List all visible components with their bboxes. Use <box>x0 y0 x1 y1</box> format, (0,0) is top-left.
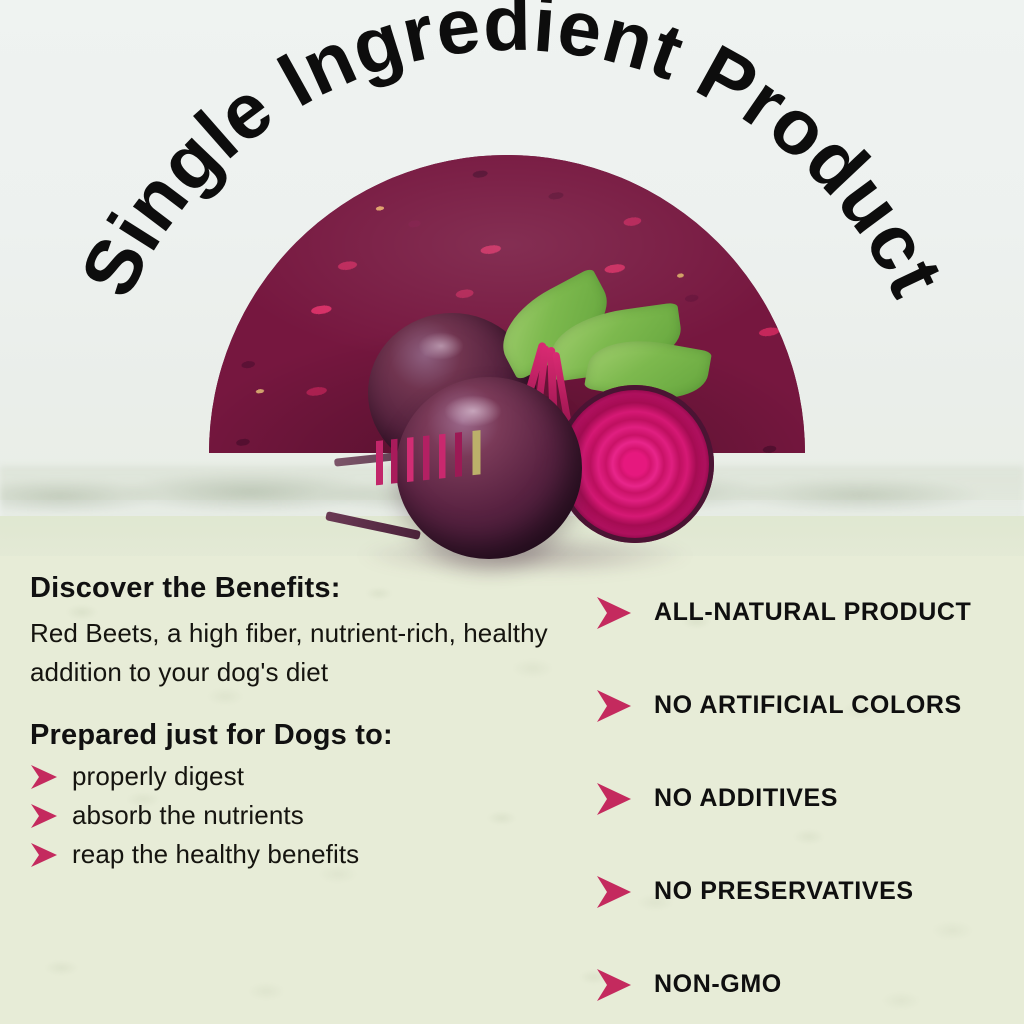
list-item: reap the healthy benefits <box>30 839 550 870</box>
arrow-bullet-icon <box>596 782 632 816</box>
list-item: ALL-NATURAL PRODUCT <box>596 566 1016 659</box>
list-item: properly digest <box>30 761 550 792</box>
product-claims-list: ALL-NATURAL PRODUCT NO ARTIFICIAL COLORS… <box>596 566 1016 1024</box>
list-item-label: ALL-NATURAL PRODUCT <box>654 598 971 627</box>
list-item-label: NO PRESERVATIVES <box>654 877 914 906</box>
benefits-body: Red Beets, a high fiber, nutrient-rich, … <box>30 614 550 690</box>
infographic-stage: Single Ingredient Product Discover the B… <box>0 0 1024 1024</box>
list-item: NON-GMO <box>596 938 1016 1024</box>
benefits-column: Discover the Benefits: Red Beets, a high… <box>30 572 550 870</box>
list-item: NO ARTIFICIAL COLORS <box>596 659 1016 752</box>
arrow-bullet-icon <box>596 875 632 909</box>
list-item: absorb the nutrients <box>30 800 550 831</box>
arrow-bullet-icon <box>30 803 58 829</box>
list-item-label: NO ARTIFICIAL COLORS <box>654 691 962 720</box>
arrow-bullet-icon <box>30 842 58 868</box>
list-item: NO PRESERVATIVES <box>596 845 1016 938</box>
arrow-bullet-icon <box>596 689 632 723</box>
prepared-heading: Prepared just for Dogs to: <box>30 719 550 752</box>
list-item-label: reap the healthy benefits <box>72 839 359 870</box>
arrow-bullet-icon <box>596 596 632 630</box>
fresh-beets-photo <box>300 285 720 585</box>
page-title: Single Ingredient Product <box>63 0 961 310</box>
list-item-label: absorb the nutrients <box>72 800 304 831</box>
benefits-heading: Discover the Benefits: <box>30 572 550 605</box>
arrow-bullet-icon <box>30 764 58 790</box>
list-item-label: NON-GMO <box>654 970 782 999</box>
list-item-label: properly digest <box>72 761 244 792</box>
arrow-bullet-icon <box>596 968 632 1002</box>
list-item-label: NO ADDITIVES <box>654 784 838 813</box>
prepared-list: properly digest absorb the nutrients rea… <box>30 761 550 870</box>
list-item: NO ADDITIVES <box>596 752 1016 845</box>
